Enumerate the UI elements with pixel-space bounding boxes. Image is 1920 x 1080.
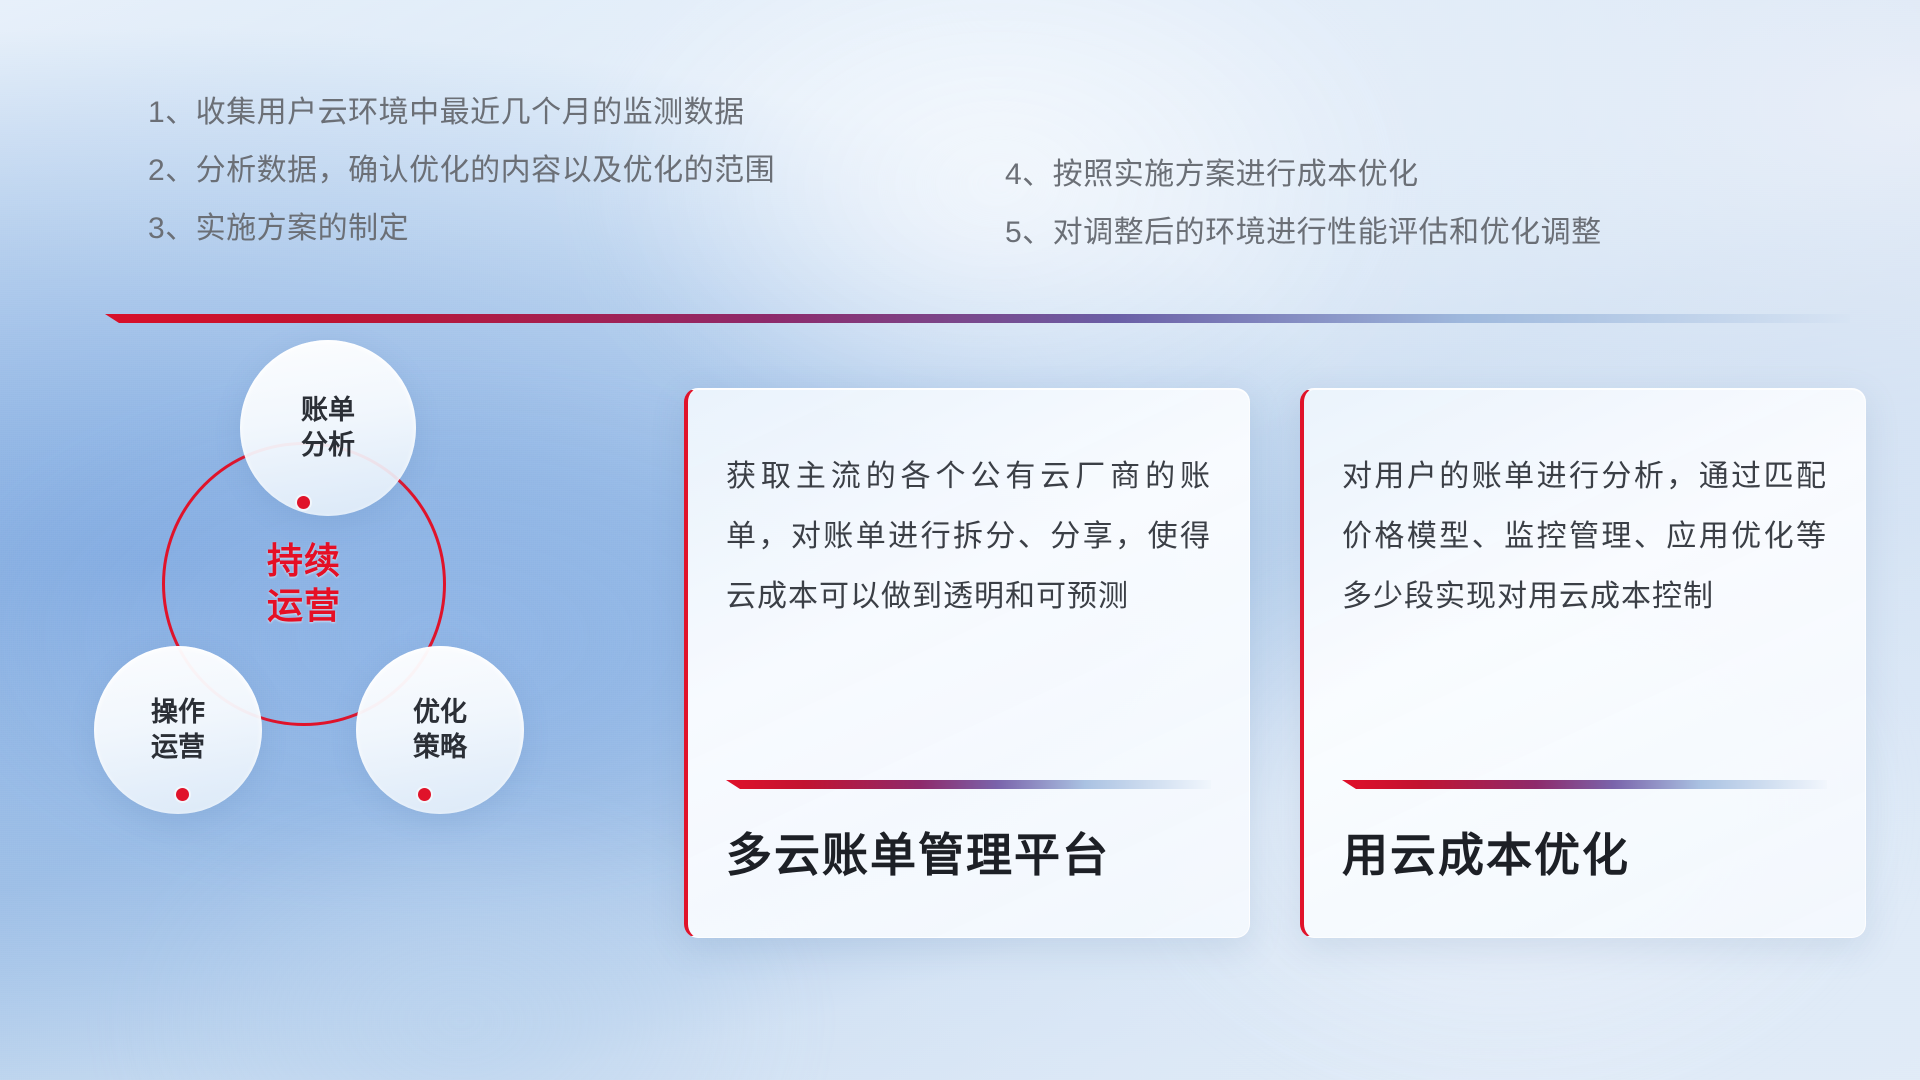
step-item-1: 1、收集用户云环境中最近几个月的监测数据: [148, 98, 775, 128]
feature-card-multicloud-billing[interactable]: 获取主流的各个公有云厂商的账单，对账单进行拆分、分享，使得云成本可以做到透明和可…: [684, 388, 1250, 938]
slide-canvas: 1、收集用户云环境中最近几个月的监测数据 2、分析数据，确认优化的内容以及优化的…: [0, 0, 1920, 1080]
center-line1: 持续: [267, 540, 341, 581]
feature-card-body: 对用户的账单进行分析，通过匹配价格模型、监控管理、应用优化等多少段实现对用云成本…: [1342, 447, 1827, 627]
feature-card-title: 用云成本优化: [1342, 819, 1630, 885]
feature-card-title: 多云账单管理平台: [726, 819, 1110, 885]
center-line2: 运营: [267, 585, 341, 626]
bubble-label-line2: 运营: [151, 732, 205, 762]
step-item-2: 2、分析数据，确认优化的内容以及优化的范围: [148, 156, 775, 186]
card-divider: [1342, 780, 1827, 789]
ring-node-top-dot: [297, 496, 310, 509]
ring-node-right-dot: [418, 788, 431, 801]
card-divider-bar: [726, 780, 1211, 789]
center-ring-text: 持续运营: [267, 539, 341, 628]
steps-list-right: 4、按照实施方案进行成本优化 5、对调整后的环境进行性能评估和优化调整: [1005, 160, 1602, 276]
step-item-4: 4、按照实施方案进行成本优化: [1005, 160, 1602, 190]
card-divider-bar: [1342, 780, 1827, 789]
bubble-label-line1: 账单: [301, 395, 355, 425]
step-item-3: 3、实施方案的制定: [148, 214, 775, 244]
cycle-diagram: 账单分析 操作运营 优化策略 持续运营: [100, 350, 620, 950]
feature-card-cost-optimization[interactable]: 对用户的账单进行分析，通过匹配价格模型、监控管理、应用优化等多少段实现对用云成本…: [1300, 388, 1866, 938]
bubble-label-line2: 策略: [413, 732, 467, 762]
center-ring-label: 持续运营: [162, 442, 446, 726]
card-divider: [726, 780, 1211, 789]
step-item-5: 5、对调整后的环境进行性能评估和优化调整: [1005, 218, 1602, 248]
ring-node-left-dot: [176, 788, 189, 801]
steps-list-left: 1、收集用户云环境中最近几个月的监测数据 2、分析数据，确认优化的内容以及优化的…: [148, 98, 775, 272]
section-divider-bar: [105, 314, 1850, 323]
section-divider-rule: [105, 314, 1850, 323]
feature-card-body: 获取主流的各个公有云厂商的账单，对账单进行拆分、分享，使得云成本可以做到透明和可…: [726, 447, 1211, 627]
